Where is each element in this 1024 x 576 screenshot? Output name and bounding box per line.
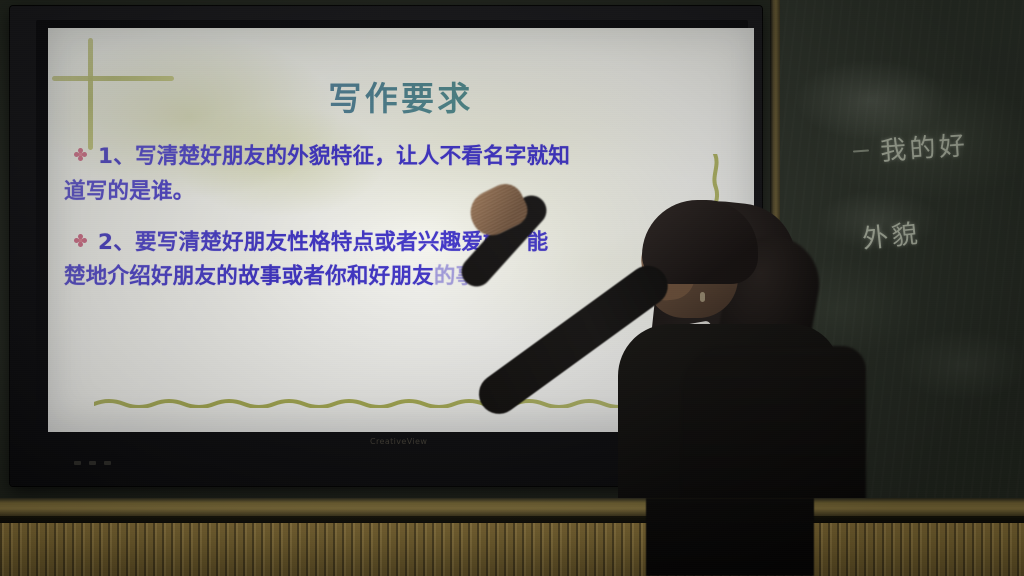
bezel-control-marks[interactable] (74, 461, 111, 465)
chalkboard-text-line-1: 我的好 (879, 125, 970, 168)
bullet-1-number: 1、 (98, 144, 135, 169)
bullet-1-line-1: 写清楚好朋友的外貌特征，让人不看名字就知 (135, 144, 570, 169)
teacher-earring (700, 292, 705, 302)
teacher-lower-body (646, 498, 814, 576)
bullet-1-line-2: 道写的是谁。 (64, 179, 195, 204)
classroom-scene: 我的好 外貌 写作要求 (0, 0, 1024, 576)
chalk-ledge-lip (0, 516, 1024, 523)
wooden-wainscot-panel (0, 523, 1024, 576)
bullet-2-line-2: 楚地介绍好朋友的故事或者你和好朋友 (64, 264, 434, 289)
chalkboard-text-line-2: 外貌 (860, 213, 922, 256)
slide-title: 写作要求 (48, 72, 754, 120)
bullet-2-number: 2、 (98, 230, 135, 255)
whiteboard-brand-label: CreativeView (370, 437, 427, 446)
chalk-smudge (898, 330, 1024, 400)
